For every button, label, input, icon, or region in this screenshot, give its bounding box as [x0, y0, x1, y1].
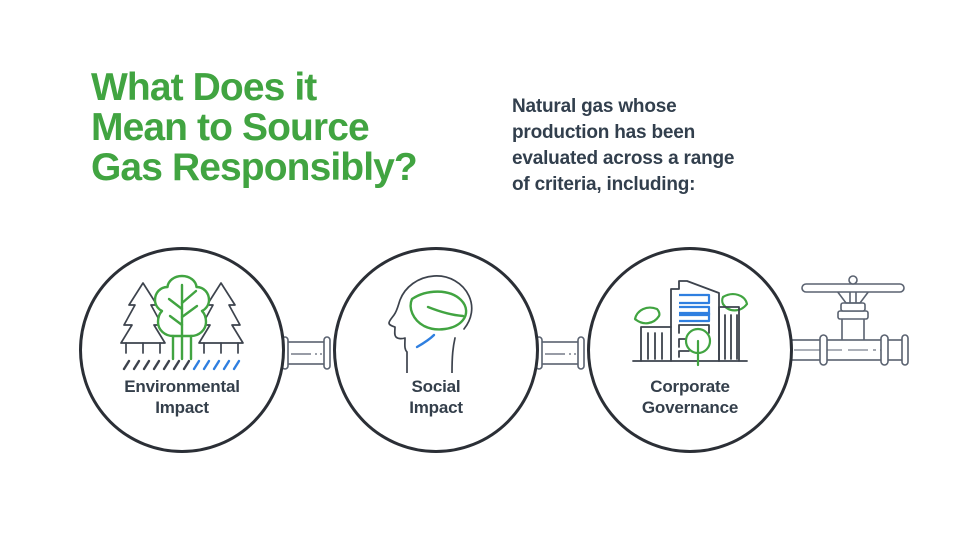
gas-pipeline-valve [780, 272, 930, 376]
gate-valve-handwheel-icon [780, 272, 930, 376]
forest-trees-rain-icon [116, 269, 248, 373]
pipe-connector-1 [277, 333, 335, 373]
node-icon-wrapper [336, 268, 536, 374]
pipe-segment-icon [531, 333, 589, 373]
city-buildings-leaves-icon [627, 269, 753, 373]
head-profile-leaf-icon [380, 269, 492, 373]
node-label-environmental-impact: Environmental Impact [82, 376, 282, 418]
node-label-corporate-governance: Corporate Governance [590, 376, 790, 418]
page-title: What Does it Mean to Source Gas Responsi… [91, 68, 511, 188]
pipe-connector-2 [531, 333, 589, 373]
infographic-canvas: What Does it Mean to Source Gas Responsi… [0, 0, 980, 552]
pipe-segment-icon [277, 333, 335, 373]
subtitle-text: Natural gas whose production has been ev… [512, 94, 812, 198]
node-social-impact[interactable]: Social Impact [333, 247, 539, 453]
node-icon-wrapper [590, 268, 790, 374]
node-environmental-impact[interactable]: Environmental Impact [79, 247, 285, 453]
node-corporate-governance[interactable]: Corporate Governance [587, 247, 793, 453]
node-icon-wrapper [82, 268, 282, 374]
node-label-social-impact: Social Impact [336, 376, 536, 418]
